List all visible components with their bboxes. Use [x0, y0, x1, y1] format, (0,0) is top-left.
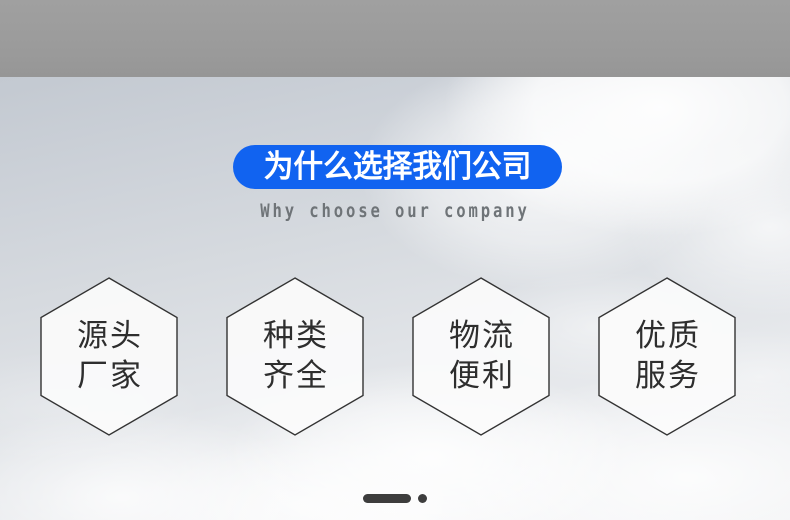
feature-hexagon-4-line1: 优质 — [633, 317, 701, 357]
feature-hexagon-2-line1: 种类 — [261, 317, 329, 357]
feature-hexagon-2-line2: 齐全 — [261, 357, 329, 397]
feature-hexagon-row: 源头 厂家 种类 齐全 物流 便利 — [0, 277, 790, 437]
sky-banner: 为什么选择我们公司 Why choose our company 源头 厂家 种… — [0, 77, 790, 520]
feature-hexagon-1-line2: 厂家 — [75, 357, 143, 397]
feature-hexagon-2-label: 种类 齐全 — [226, 277, 364, 436]
heading-pill: 为什么选择我们公司 — [233, 145, 562, 189]
feature-hexagon-3-line1: 物流 — [447, 317, 515, 357]
feature-hexagon-4: 优质 服务 — [598, 277, 736, 436]
feature-hexagon-2: 种类 齐全 — [226, 277, 364, 436]
feature-hexagon-3: 物流 便利 — [412, 277, 550, 436]
top-gray-band — [0, 0, 790, 77]
carousel-dot-1[interactable] — [363, 494, 411, 503]
feature-hexagon-3-label: 物流 便利 — [412, 277, 550, 436]
feature-hexagon-1-label: 源头 厂家 — [40, 277, 178, 436]
feature-hexagon-4-label: 优质 服务 — [598, 277, 736, 436]
carousel-pager[interactable] — [0, 493, 790, 503]
feature-hexagon-1: 源头 厂家 — [40, 277, 178, 436]
page-subtitle: Why choose our company — [71, 202, 719, 221]
banner-screen: 为什么选择我们公司 Why choose our company 源头 厂家 种… — [0, 0, 790, 520]
carousel-dot-2[interactable] — [418, 494, 427, 503]
page-title: 为什么选择我们公司 — [264, 152, 532, 183]
feature-hexagon-3-line2: 便利 — [447, 357, 515, 397]
feature-hexagon-4-line2: 服务 — [633, 357, 701, 397]
feature-hexagon-1-line1: 源头 — [75, 317, 143, 357]
